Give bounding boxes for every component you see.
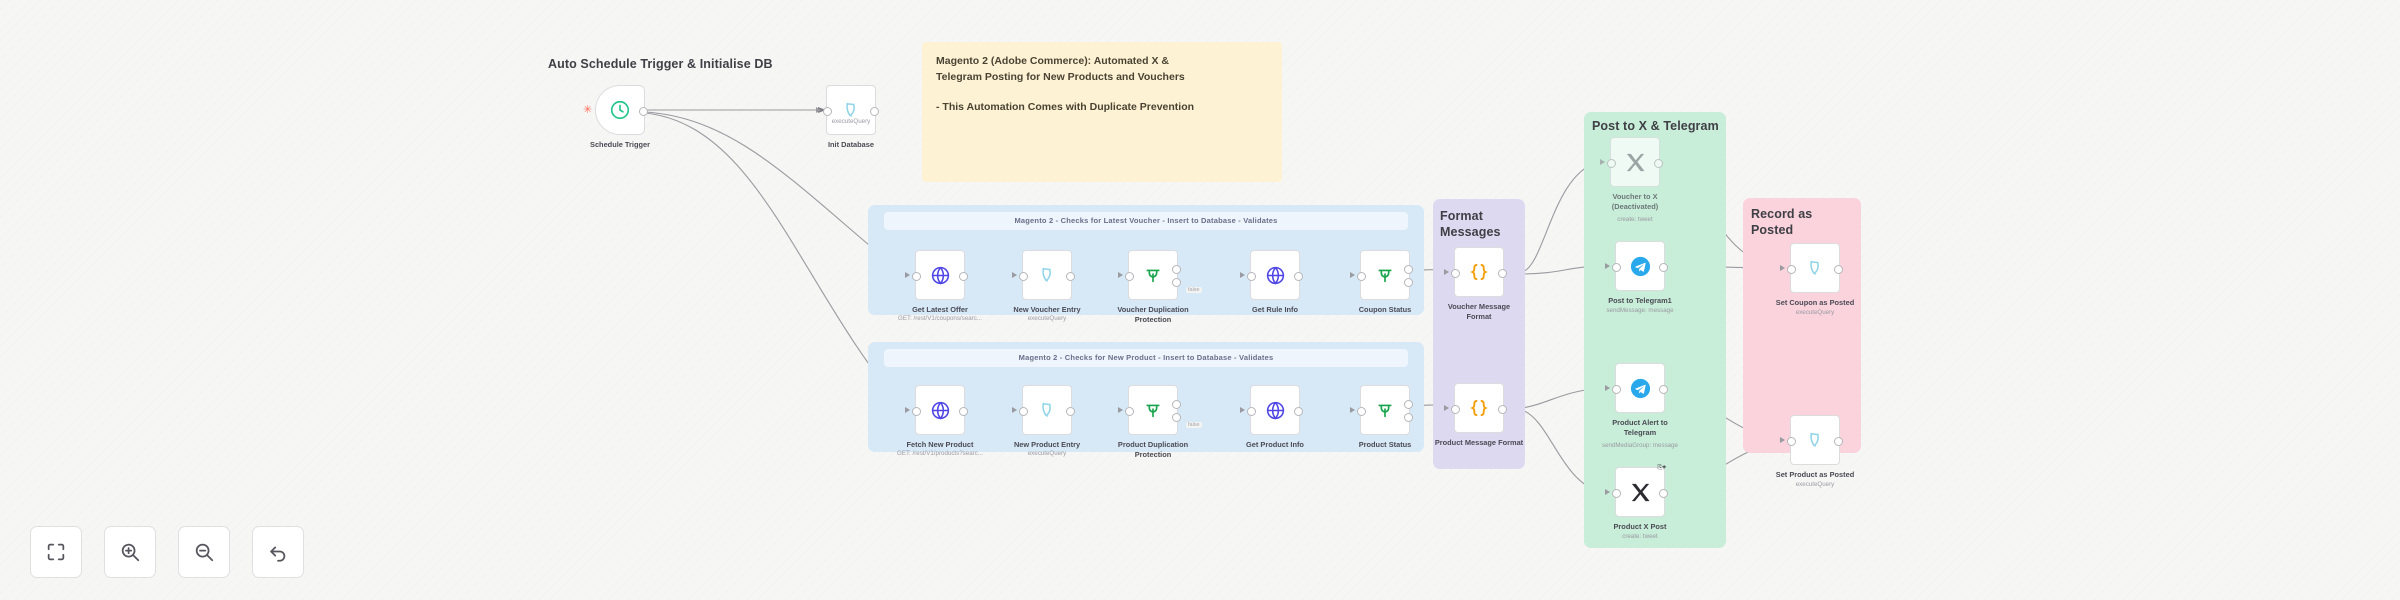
postgres-icon (1804, 429, 1826, 451)
node-label-post-to-telegram1: Post to Telegram1 (1576, 296, 1704, 306)
port-out-true[interactable] (1172, 400, 1181, 409)
group-title-record-as-posted: Record as Posted (1751, 206, 1841, 238)
node-label-product-x-post: Product X Post (1576, 522, 1704, 532)
port-in[interactable] (1247, 272, 1256, 281)
arrow-in (816, 107, 821, 113)
port-in[interactable] (1451, 269, 1460, 278)
node-sub-set-coupon-as-posted: executeQuery (1751, 308, 1879, 316)
node-new-voucher-entry[interactable]: New Voucher Entry (1022, 250, 1072, 300)
arrow-in (1350, 407, 1355, 413)
x-icon (1629, 481, 1652, 504)
undo-icon (267, 541, 289, 563)
node-label-set-product-as-posted: Set Product as Posted (1751, 470, 1879, 480)
arrow-in (1012, 407, 1017, 413)
node-label-voucher-to-x: Voucher to X (Deactivated) (1571, 192, 1699, 212)
node-voucher-duplication-protection[interactable]: Voucher Duplication Protection (1128, 250, 1178, 300)
port-in[interactable] (912, 407, 921, 416)
globe-icon (930, 400, 951, 421)
node-get-product-info[interactable]: Get Product Info (1250, 385, 1300, 435)
arrow-in (1780, 437, 1785, 443)
node-set-product-as-posted[interactable]: Set Product as Posted (1790, 415, 1840, 465)
node-sub-post-to-telegram1: sendMessage: message (1576, 306, 1704, 314)
node-label-product-message-format: Product Message Format (1415, 438, 1543, 448)
node-product-alert-to-telegram[interactable]: Product Alert to Telegram (1615, 363, 1665, 413)
port-in[interactable] (1019, 407, 1028, 416)
zoom-out-icon (193, 541, 215, 563)
port-out-true[interactable] (1404, 400, 1413, 409)
arrow-in (1118, 272, 1123, 278)
node-label-get-rule-info: Get Rule Info (1211, 305, 1339, 315)
zoom-in-button[interactable] (104, 526, 156, 578)
group-title-post-to-x-telegram: Post to X & Telegram (1592, 118, 1732, 134)
node-coupon-status[interactable]: Coupon Status (1360, 250, 1410, 300)
node-sub-product-x-post: create: tweet (1576, 532, 1704, 540)
globe-icon (1265, 265, 1286, 286)
node-label-schedule-trigger: Schedule Trigger (556, 140, 684, 150)
node-label-set-coupon-as-posted: Set Coupon as Posted (1751, 298, 1879, 308)
arrow-in (1012, 272, 1017, 278)
sticky-note-title-line2: Telegram Posting for New Products and Vo… (936, 70, 1268, 86)
arrow-in (1240, 407, 1245, 413)
sticky-note-spacer (936, 86, 1268, 100)
node-sub-voucher-to-x: create: tweet (1571, 215, 1699, 223)
fit-to-view-button[interactable] (30, 526, 82, 578)
port-in[interactable] (1787, 437, 1796, 446)
node-product-status[interactable]: Product Status (1360, 385, 1410, 435)
edge-label-voucher-false: false (1186, 287, 1202, 293)
trigger-spark-icon: ✳ (583, 105, 592, 116)
postgres-icon (1804, 257, 1826, 279)
globe-icon (930, 265, 951, 286)
x-icon (1624, 151, 1647, 174)
node-schedule-trigger[interactable]: ✳ Schedule Trigger (595, 85, 645, 135)
node-label-voucher-message-format: Voucher Message Format (1415, 302, 1543, 322)
port-out[interactable] (1066, 407, 1075, 416)
port-out[interactable] (1834, 265, 1843, 274)
port-out[interactable] (1498, 269, 1507, 278)
node-product-message-format[interactable]: Product Message Format (1454, 383, 1504, 433)
telegram-icon (1629, 377, 1652, 400)
port-in[interactable] (1357, 272, 1366, 281)
port-out-true[interactable] (1172, 265, 1181, 274)
arrow-in (1780, 265, 1785, 271)
arrow-in (905, 272, 910, 278)
node-get-latest-offer[interactable]: Get Latest Offer (915, 250, 965, 300)
clock-icon (609, 99, 631, 121)
edge-label-product-false: false (1186, 422, 1202, 428)
reset-zoom-button[interactable] (252, 526, 304, 578)
voucher-band-header: Magento 2 - Checks for Latest Voucher - … (884, 212, 1408, 230)
sticky-note-body-line1: - This Automation Comes with Duplicate P… (936, 100, 1268, 116)
port-out[interactable] (1294, 407, 1303, 416)
postgres-icon (1036, 264, 1058, 286)
group-title-format-messages: Format Messages (1440, 208, 1532, 240)
arrow-in (1605, 263, 1610, 269)
node-voucher-to-x[interactable]: Voucher to X (Deactivated) (1610, 137, 1660, 187)
node-badge-icon: ⎘✦ (1657, 465, 1666, 472)
port-out[interactable] (959, 407, 968, 416)
zoom-in-icon (119, 541, 141, 563)
port-in[interactable] (1247, 407, 1256, 416)
port-in[interactable] (823, 107, 832, 116)
arrow-in (1240, 272, 1245, 278)
port-out[interactable] (959, 272, 968, 281)
group-title-trigger: Auto Schedule Trigger & Initialise DB (548, 56, 773, 72)
node-set-coupon-as-posted[interactable]: Set Coupon as Posted (1790, 243, 1840, 293)
port-in[interactable] (1019, 272, 1028, 281)
port-in[interactable] (1125, 407, 1134, 416)
port-out[interactable] (1066, 272, 1075, 281)
arrow-in (1350, 272, 1355, 278)
arrow-in (1444, 405, 1449, 411)
node-label-product-alert-to-telegram: Product Alert to Telegram (1576, 418, 1704, 438)
node-fetch-new-product[interactable]: Fetch New Product (915, 385, 965, 435)
port-in[interactable] (1607, 159, 1616, 168)
port-out[interactable] (1498, 405, 1507, 414)
arrow-in (1118, 407, 1123, 413)
node-sub-init-database: executeQuery (787, 117, 915, 125)
port-in[interactable] (1357, 407, 1366, 416)
globe-icon (1265, 400, 1286, 421)
workflow-canvas[interactable]: Auto Schedule Trigger & Initialise DB Ma… (0, 0, 2400, 600)
port-out[interactable] (1659, 385, 1668, 394)
filter-icon (1142, 264, 1164, 286)
port-out[interactable] (1654, 159, 1663, 168)
port-out[interactable] (1659, 489, 1668, 498)
arrow-in (1444, 269, 1449, 275)
telegram-icon (1629, 255, 1652, 278)
filter-icon (1374, 264, 1396, 286)
sticky-note[interactable]: Magento 2 (Adobe Commerce): Automated X … (922, 42, 1282, 182)
port-in[interactable] (1612, 385, 1621, 394)
node-get-rule-info[interactable]: Get Rule Info (1250, 250, 1300, 300)
arrow-in (905, 407, 910, 413)
node-post-to-telegram1[interactable]: Post to Telegram1 (1615, 241, 1665, 291)
port-out[interactable] (1659, 263, 1668, 272)
code-icon (1467, 260, 1491, 284)
product-band-header: Magento 2 - Checks for New Product - Ins… (884, 349, 1408, 367)
port-out[interactable] (639, 107, 648, 116)
port-in[interactable] (912, 272, 921, 281)
node-product-duplication-protection[interactable]: Product Duplication Protection (1128, 385, 1178, 435)
port-in[interactable] (1125, 272, 1134, 281)
node-voucher-message-format[interactable]: Voucher Message Format (1454, 247, 1504, 297)
port-in[interactable] (1612, 263, 1621, 272)
node-label-product-duplication-protection: Product Duplication Protection (1089, 440, 1217, 460)
fit-screen-icon (45, 541, 67, 563)
port-out-true[interactable] (1404, 265, 1413, 274)
code-icon (1467, 396, 1491, 420)
port-out[interactable] (1294, 272, 1303, 281)
node-init-database[interactable]: Init Database (826, 85, 876, 135)
port-in[interactable] (1612, 489, 1621, 498)
filter-icon (1142, 399, 1164, 421)
node-sub-set-product-as-posted: executeQuery (1751, 480, 1879, 488)
node-sub-product-alert-to-telegram: sendMediaGroup: message (1576, 441, 1704, 449)
node-label-get-product-info: Get Product Info (1211, 440, 1339, 450)
node-new-product-entry[interactable]: New Product Entry (1022, 385, 1072, 435)
port-in[interactable] (1451, 405, 1460, 414)
canvas-toolbar (30, 526, 304, 578)
zoom-out-button[interactable] (178, 526, 230, 578)
node-label-voucher-duplication-protection: Voucher Duplication Protection (1089, 305, 1217, 325)
filter-icon (1374, 399, 1396, 421)
sticky-note-title-line1: Magento 2 (Adobe Commerce): Automated X … (936, 54, 1268, 70)
postgres-icon (1036, 399, 1058, 421)
port-in[interactable] (1787, 265, 1796, 274)
port-out[interactable] (1834, 437, 1843, 446)
port-out[interactable] (870, 107, 879, 116)
node-label-init-database: Init Database (787, 140, 915, 150)
arrow-in (1600, 159, 1605, 165)
arrow-in (1605, 489, 1610, 495)
node-product-x-post[interactable]: ⎘✦ Product X Post (1615, 467, 1665, 517)
arrow-in (1605, 385, 1610, 391)
